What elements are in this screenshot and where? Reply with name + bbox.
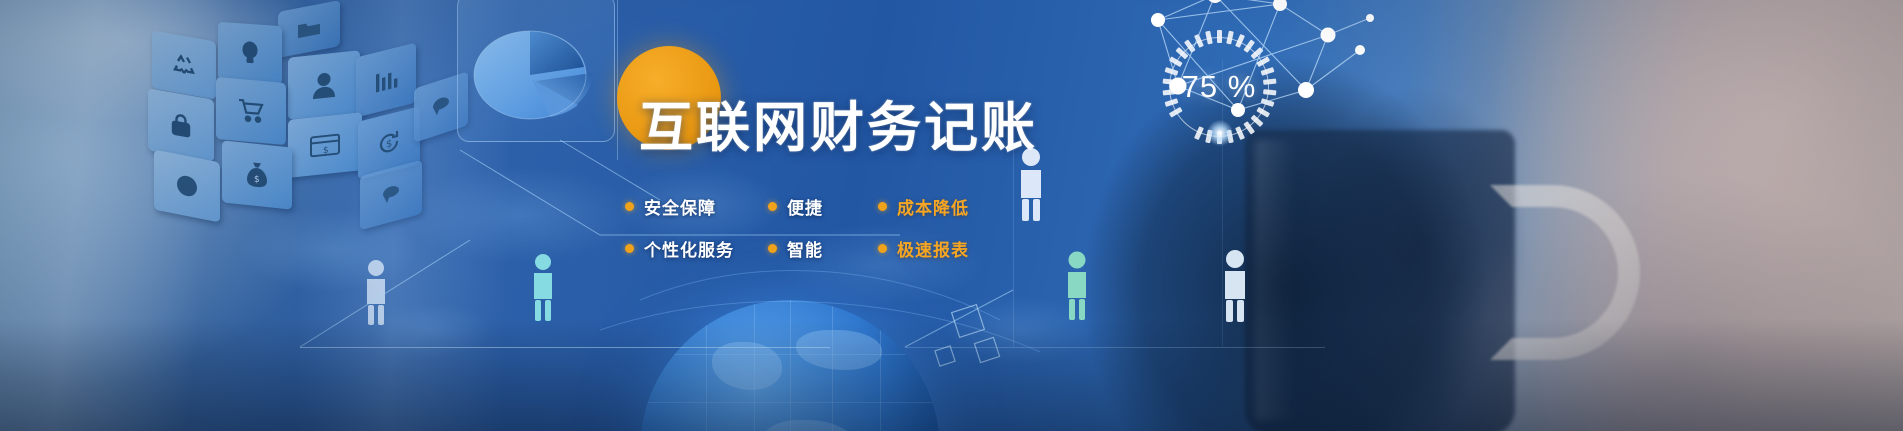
vignette [0, 0, 1903, 431]
marketing-banner: $ $ $ [0, 0, 1903, 431]
